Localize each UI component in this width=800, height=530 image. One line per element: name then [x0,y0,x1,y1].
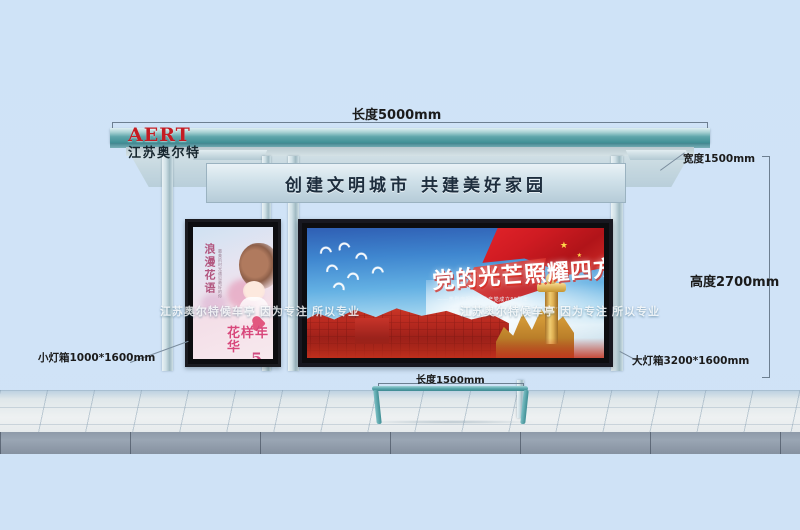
dimension-line-height [769,156,770,378]
bench-shadow [368,420,534,424]
roof-brace-left [193,150,267,160]
brand-logo-latin: AERT [128,126,201,145]
small-poster-number: 5 [251,349,262,359]
small-lightbox-artwork: 浪漫花语 最美的时光遇见最好的你 花样年华 5 [193,227,273,359]
dimension-tick-height-top [762,156,770,157]
large-lightbox: ★ ★ 党的光芒照耀四方 ——热烈庆祝中国共产党成立96周年 CELEBRATE… [298,219,613,367]
label-small-lightbox: 小灯箱1000*1600mm [38,350,155,365]
brand-logo: AERT 江苏奥尔特 [128,126,201,162]
rendering-canvas: 长度5000mm 创建文明城市 共建美好家园 AERT 江苏奥尔特 浪漫花语 最… [0,0,800,530]
poster-subtitle-english: CELEBRATE THE 96TH ANNIVERSARY OF THE CO… [441,306,577,310]
dove-icon [324,263,338,273]
dove-icon [336,240,351,251]
brand-logo-chinese: 江苏奥尔特 [128,146,201,162]
header-slogan-text: 创建文明城市 共建美好家园 [285,171,547,196]
huabiao-pillar [545,286,558,344]
header-slogan-band: 创建文明城市 共建美好家园 [206,163,626,203]
poster-bottom-ribbon [307,338,604,358]
label-large-lightbox: 大灯箱3200*1600mm [632,353,749,368]
small-poster-vertical-title: 浪漫花语 [201,243,217,295]
bench-seat-rail [372,386,528,391]
star-icon: ★ [560,240,568,251]
dove-icon [346,271,360,280]
label-height-2700: 高度2700mm [690,271,779,290]
small-lightbox: 浪漫花语 最美的时光遇见最好的你 花样年华 5 [185,219,281,367]
small-poster-caption: 花样年华 [227,327,273,355]
label-length-5000: 长度5000mm [352,104,441,123]
dove-icon [319,245,333,254]
curb-seams [0,432,800,454]
curb [0,432,800,454]
dimension-tick-height-bottom [762,377,770,378]
dove-icon [332,281,346,291]
label-width-1500: 宽度1500mm [683,151,755,166]
foreground-ground [0,454,800,530]
small-poster-vertical-sub: 最美的时光遇见最好的你 [217,249,224,327]
dove-icon [355,252,368,260]
dove-flock [317,242,407,292]
shelter-post-1 [162,156,173,371]
label-bench-length: 长度1500mm [416,371,485,386]
poster-subtitle: ——热烈庆祝中国共产党成立96周年 [438,296,529,303]
large-lightbox-artwork: ★ ★ 党的光芒照耀四方 ——热烈庆祝中国共产党成立96周年 CELEBRATE… [307,228,604,358]
dove-icon [371,265,385,273]
